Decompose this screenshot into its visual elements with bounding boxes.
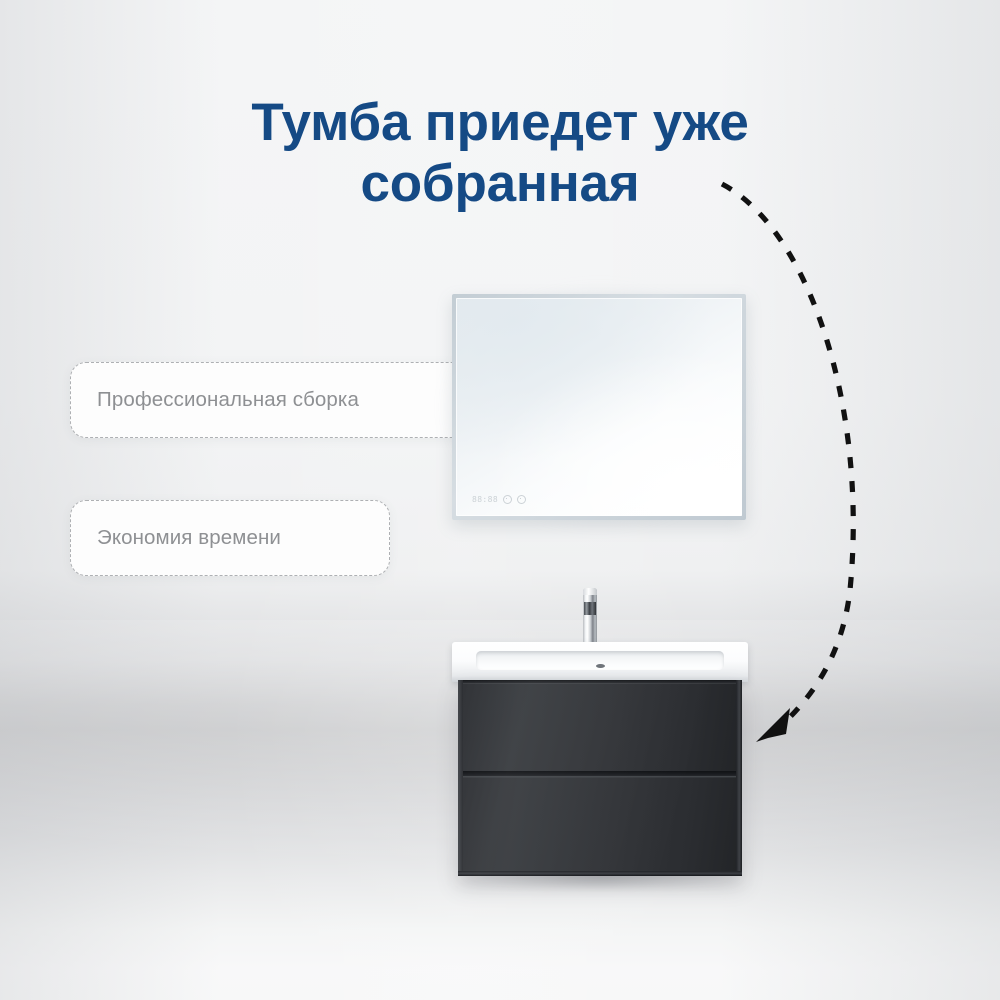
cabinet-left-edge [458,680,463,876]
basin-overflow-hole [596,664,605,668]
mirror-control-panel: 88:88 [472,495,526,504]
arrow-head-icon [756,708,790,742]
product-banner: Тумба приедет уже собранная Профессионал… [0,0,1000,1000]
feature-badge-time-label: Экономия времени [97,526,281,550]
touch-sensor-1-icon[interactable] [503,495,512,504]
drawer-bottom[interactable] [463,777,736,871]
cabinet-bottom-edge [458,871,742,876]
faucet-cap [583,588,597,595]
curved-dashed-arrow [690,160,910,760]
feature-badge-time[interactable]: Экономия времени [70,500,390,576]
headline-line-2: собранная [360,154,639,213]
headline-line-1: Тумба приедет уже [251,93,748,152]
faucet-handle [584,602,596,615]
faucet-body [583,588,597,650]
feature-badge-assembly-label: Профессиональная сборка [97,388,359,412]
feature-badge-assembly[interactable]: Профессиональная сборка [70,362,488,438]
mirror-clock-display: 88:88 [472,496,498,504]
touch-sensor-2-icon[interactable] [517,495,526,504]
faucet [583,588,597,650]
arrow-curve-path [722,184,853,725]
